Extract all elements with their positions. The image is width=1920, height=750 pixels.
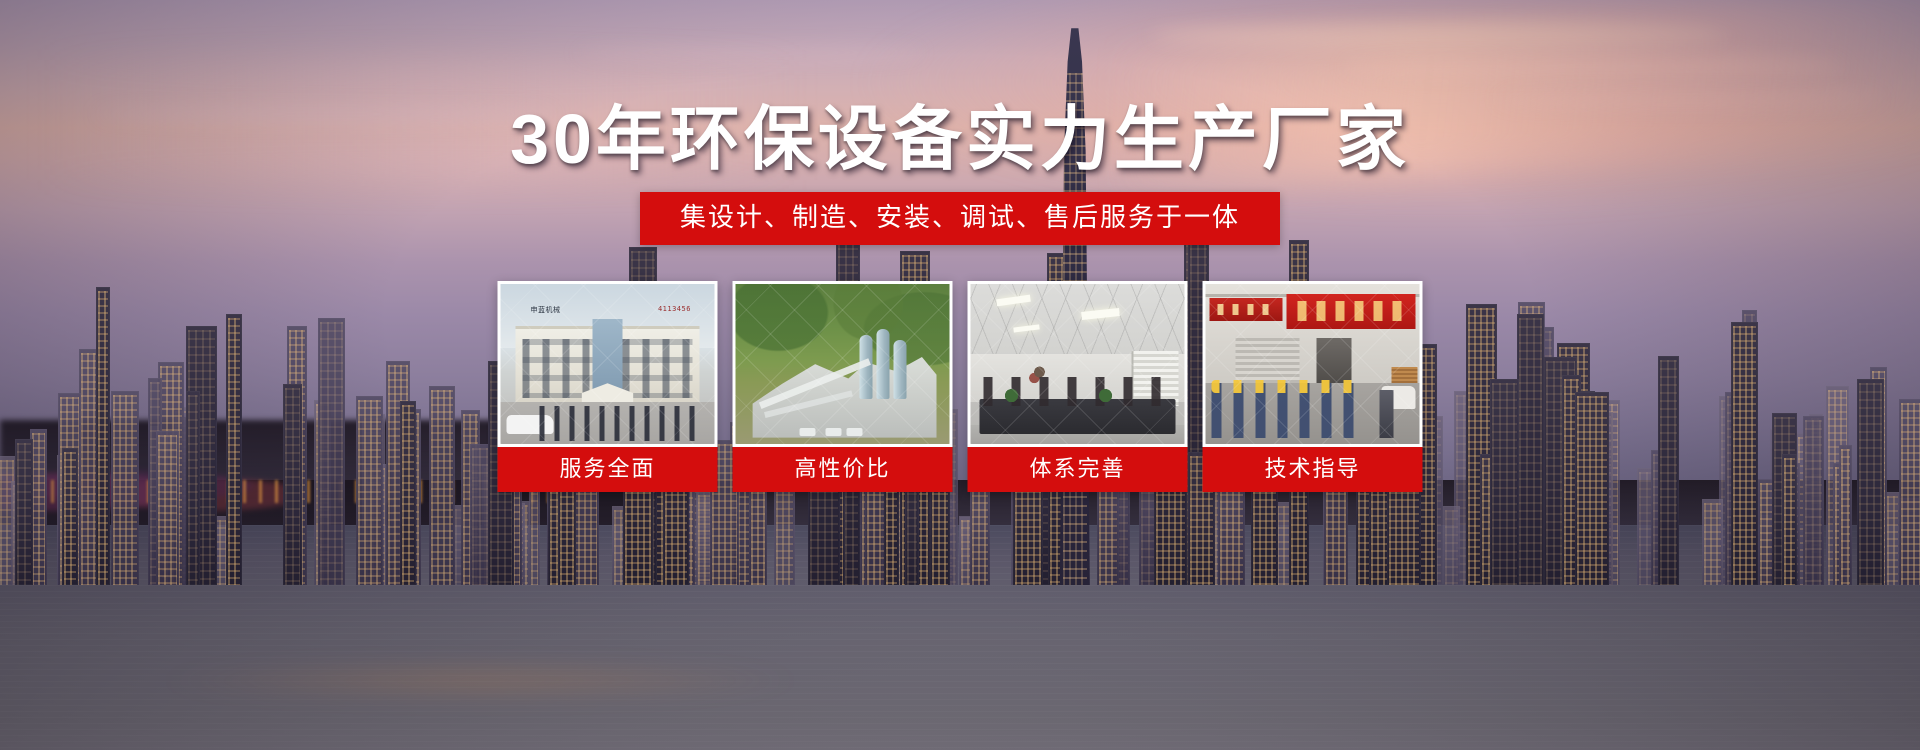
- photo-potted-plant: [1099, 386, 1113, 402]
- card-caption: 服务全面: [498, 447, 718, 492]
- photo-factory-art: [1206, 284, 1420, 444]
- photo-ceiling-grid: [971, 284, 1185, 358]
- card-caption: 体系完善: [968, 447, 1188, 492]
- banner-subtitle-row: 集设计、制造、安装、调试、售后服务于一体: [0, 192, 1920, 245]
- card-photo-office-interior: [971, 284, 1185, 444]
- banner-content: 30年环保设备实力生产厂家 集设计、制造、安装、调试、售后服务于一体 申蓝机械 …: [0, 0, 1920, 750]
- photo-building-art: 申蓝机械 4113456: [501, 284, 715, 444]
- photo-safety-helmets: [1212, 380, 1364, 393]
- photo-supervisor: [1380, 390, 1394, 438]
- photo-roller-shutter: [1235, 335, 1299, 383]
- photo-silo: [894, 340, 907, 399]
- photo-staff-lineup: [539, 406, 702, 441]
- feature-card[interactable]: 申蓝机械 4113456 服务全面: [498, 281, 718, 492]
- card-caption: 技术指导: [1203, 447, 1423, 492]
- card-photo-office-building: 申蓝机械 4113456: [501, 284, 715, 444]
- photo-truck: [800, 428, 816, 436]
- feature-card[interactable]: 高性价比: [733, 281, 953, 492]
- feature-card-list: 申蓝机械 4113456 服务全面: [498, 281, 1423, 492]
- photo-plant-art: [736, 284, 950, 444]
- photo-potted-plant: [1005, 386, 1019, 402]
- photo-silo: [877, 329, 890, 399]
- card-caption: 高性价比: [733, 447, 953, 492]
- banner-subtitle: 集设计、制造、安装、调试、售后服务于一体: [640, 192, 1280, 245]
- photo-truck: [847, 428, 863, 436]
- photo-office-art: [971, 284, 1185, 444]
- card-photo-factory-team: [1206, 284, 1420, 444]
- feature-card[interactable]: 技术指导: [1203, 281, 1423, 492]
- card-photo-industrial-plant: [736, 284, 950, 444]
- photo-building-sign: 申蓝机械: [530, 305, 560, 315]
- banner-headline: 30年环保设备实力生产厂家: [0, 104, 1920, 174]
- photo-truck: [825, 428, 841, 436]
- feature-card[interactable]: 体系完善: [968, 281, 1188, 492]
- photo-red-banner: [1287, 294, 1415, 329]
- hero-banner: 30年环保设备实力生产厂家 集设计、制造、安装、调试、售后服务于一体 申蓝机械 …: [0, 0, 1920, 750]
- photo-red-slogan-strip: [1210, 298, 1283, 320]
- photo-building-phone: 4113456: [658, 305, 691, 313]
